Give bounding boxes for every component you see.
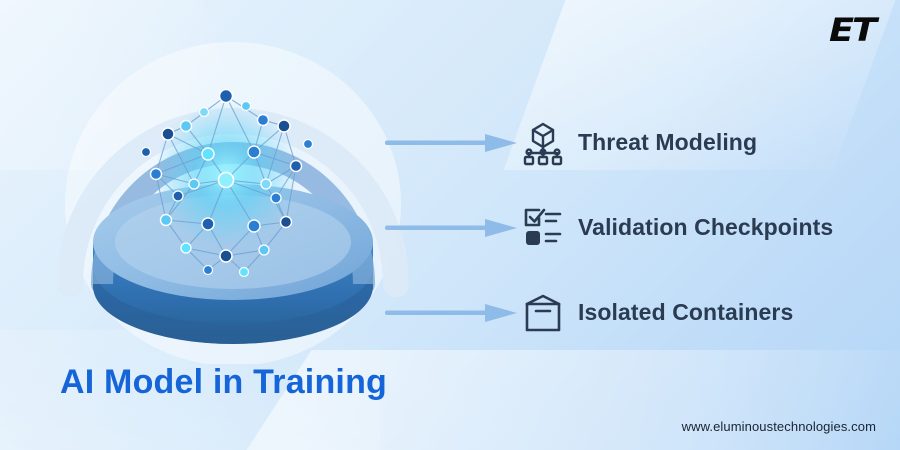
checklist-icon [520, 205, 566, 251]
arrow-icon [385, 301, 520, 325]
arrow-icon [385, 216, 520, 240]
feature-row-validation-checkpoints[interactable]: Validation Checkpoints [385, 185, 885, 270]
feature-label: Validation Checkpoints [578, 214, 833, 241]
feature-row-isolated-containers[interactable]: Isolated Containers [385, 270, 885, 355]
feature-label: Threat Modeling [578, 129, 757, 156]
feature-row-threat-modeling[interactable]: Threat Modeling [385, 100, 885, 185]
container-box-icon [520, 290, 566, 336]
infographic-canvas: ET [0, 0, 900, 450]
threat-model-hierarchy-icon [520, 120, 566, 166]
arrow-icon [385, 131, 520, 155]
et-logo: ET [829, 14, 875, 46]
page-title: AI Model in Training [60, 365, 387, 399]
feature-label: Isolated Containers [578, 299, 793, 326]
ai-model-illustration [58, 34, 408, 364]
feature-list: Threat Modeling Validation Checkpoints [385, 100, 885, 355]
website-url: www.eluminoustechnologies.com [682, 419, 876, 434]
